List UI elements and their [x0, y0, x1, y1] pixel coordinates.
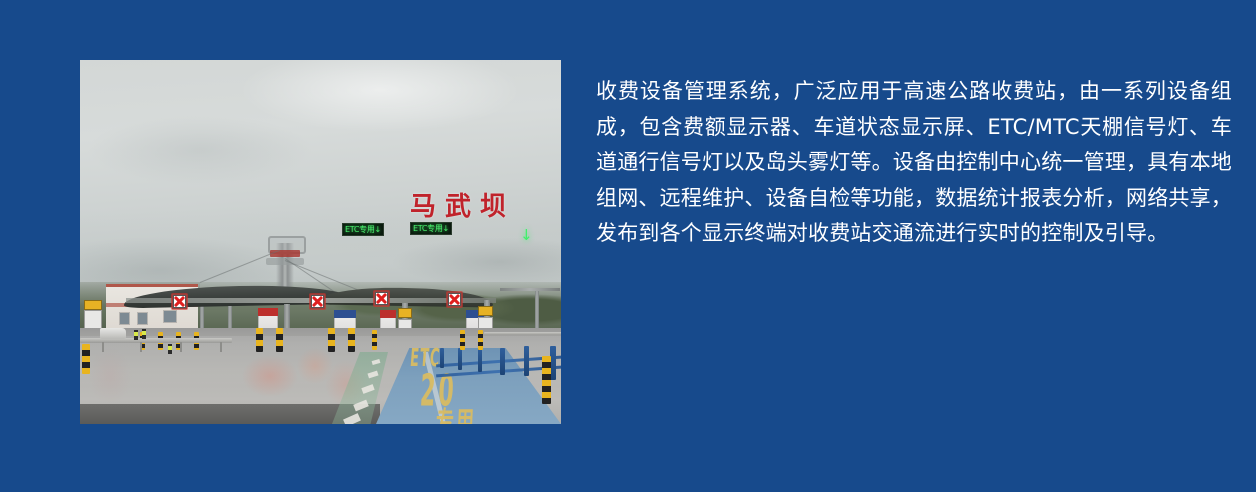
- signal-halo: [309, 293, 326, 310]
- fence-post: [478, 348, 482, 372]
- description-paragraph: 收费设备管理系统，广泛应用于高速公路收费站，由一系列设备组成，包含费额显示器、车…: [596, 74, 1232, 252]
- toll-station-photo: 马武坝: [80, 60, 561, 424]
- traffic-bollard: [276, 328, 283, 352]
- guardrail-post: [140, 342, 142, 352]
- traffic-bollard: [542, 356, 551, 404]
- roadside-sign-yellow: [84, 300, 102, 310]
- fence-post: [440, 348, 444, 368]
- lane-signal-closed-icon: [447, 292, 462, 307]
- fence-post: [500, 348, 505, 375]
- building-window: [138, 313, 147, 324]
- traffic-bollard: [372, 330, 377, 350]
- photo-canvas: 马武坝: [80, 60, 561, 424]
- signal-halo: [446, 291, 463, 308]
- worker-figure: [142, 329, 146, 339]
- etc-lane-sign: ETC专用↓: [410, 222, 452, 235]
- description-panel: 收费设备管理系统，广泛应用于高速公路收费站，由一系列设备组成，包含费额显示器、车…: [596, 74, 1232, 252]
- roadside-sign-yellow: [478, 306, 493, 316]
- gantry-beam: [500, 288, 560, 291]
- station-name-sign: 马武坝: [410, 192, 515, 222]
- roadside-sign-yellow: [398, 308, 412, 318]
- lane-signal-closed-icon: [310, 294, 325, 309]
- guardrail-post: [102, 342, 104, 352]
- worker-figure: [134, 330, 138, 340]
- worker-figure: [168, 344, 172, 354]
- guardrail-post: [220, 342, 222, 352]
- fence-post: [458, 348, 462, 370]
- traffic-bollard: [348, 328, 355, 352]
- pavement-marking-reserved: 专用: [435, 400, 477, 424]
- guardrail-far: [484, 332, 561, 335]
- fence-post: [524, 346, 529, 376]
- lane-signal-open-icon: ↓: [520, 228, 533, 243]
- lane-signal-closed-icon: [172, 294, 187, 309]
- guardrail-post: [180, 342, 182, 352]
- building-window: [164, 311, 176, 322]
- signal-halo: [373, 290, 390, 307]
- parked-vehicle: [100, 328, 126, 339]
- traffic-bollard: [328, 328, 335, 352]
- traffic-bollard: [460, 330, 465, 350]
- traffic-bollard: [82, 344, 90, 374]
- traffic-bollard: [256, 328, 263, 352]
- etc-lane-sign: ETC专用↓: [342, 223, 384, 236]
- building-window: [120, 313, 129, 324]
- page-root: 马武坝: [0, 0, 1256, 492]
- signal-halo: [171, 293, 188, 310]
- lane-signal-closed-icon: [374, 291, 389, 306]
- traffic-bollard: [478, 330, 483, 350]
